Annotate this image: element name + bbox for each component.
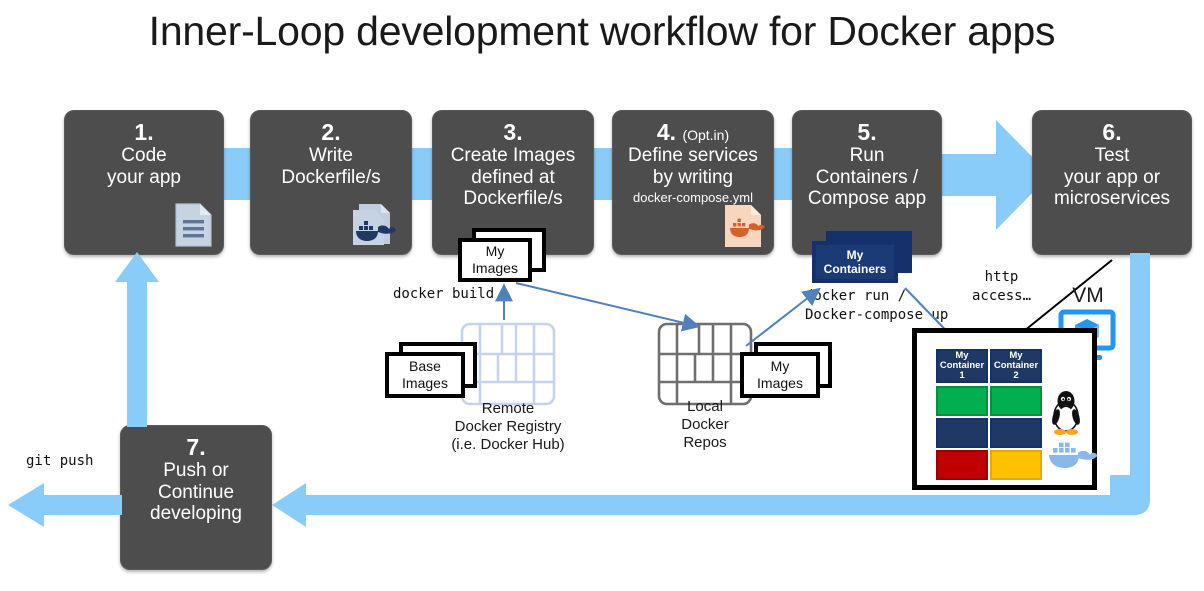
vm-container-2-band-green xyxy=(990,386,1042,416)
vm-container-1-band-green xyxy=(936,386,988,416)
docker-whale-icon xyxy=(1044,438,1090,472)
vm-container-2-band-yellow xyxy=(990,450,1042,480)
vm-container-1-band-navy xyxy=(936,418,988,448)
vm-container-1-label: My Container 1 xyxy=(936,349,988,383)
linux-penguin-icon xyxy=(1048,388,1084,436)
vm-container-1-band-red xyxy=(936,450,988,480)
diagram-canvas: Inner-Loop development workflow for Dock… xyxy=(0,0,1204,591)
vm-container-2-label: My Container 2 xyxy=(990,349,1042,383)
http-access-label: http access… xyxy=(972,268,1031,306)
vm-container-2-band-navy xyxy=(990,418,1042,448)
vm-label: VM xyxy=(1058,283,1118,308)
vm-container-1: My Container 1 xyxy=(936,349,988,482)
vm-container-2: My Container 2 xyxy=(990,349,1042,482)
